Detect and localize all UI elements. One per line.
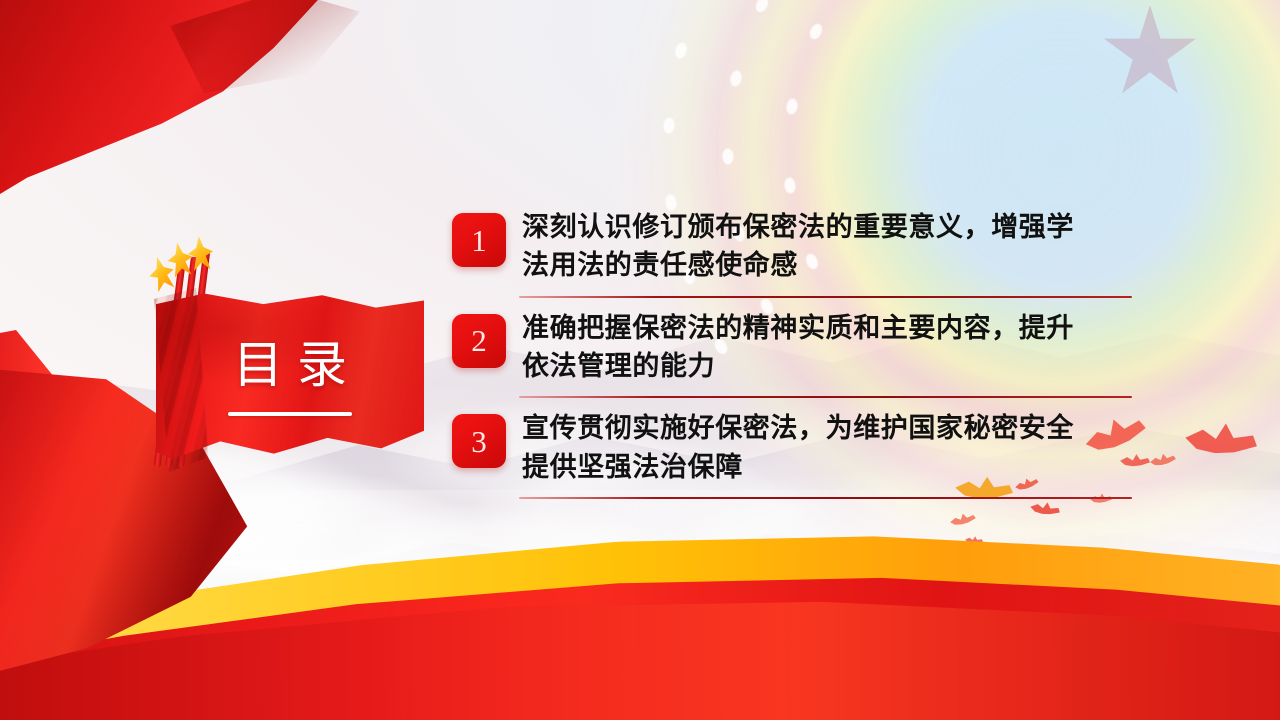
halo-dot bbox=[674, 41, 689, 59]
toc-row[interactable]: 1深刻认识修订颁布保密法的重要意义，增强学 法用法的责任感使命感 bbox=[452, 206, 1132, 285]
bird-icon bbox=[964, 534, 984, 549]
bird-icon bbox=[1181, 412, 1261, 474]
toc-item[interactable]: 3宣传贯彻实施好保密法，为维护国家秘密安全 提供坚强法治保障 bbox=[452, 407, 1132, 508]
silk-fold bbox=[170, 0, 360, 110]
cloud bbox=[300, 500, 720, 650]
cloud bbox=[560, 560, 1080, 720]
star-icon bbox=[1102, 5, 1198, 101]
bird-shape bbox=[1181, 412, 1261, 474]
flag-title-block: 目录 bbox=[156, 290, 424, 466]
page-title: 目录 bbox=[219, 340, 361, 390]
cloud bbox=[900, 540, 1280, 700]
silk-shading bbox=[0, 0, 520, 210]
toc-row[interactable]: 2准确把握保密法的精神实质和主要内容，提升 依法管理的能力 bbox=[452, 307, 1132, 386]
cloud bbox=[200, 540, 720, 710]
halo-dot bbox=[807, 22, 824, 41]
toc-divider bbox=[519, 497, 1132, 499]
red-ribbon-lower bbox=[0, 505, 1280, 720]
cloud bbox=[120, 470, 480, 600]
bird-shape bbox=[1149, 451, 1176, 471]
toc-item-label: 宣传贯彻实施好保密法，为维护国家秘密安全 提供坚强法治保障 bbox=[522, 407, 1132, 486]
table-of-contents: 1深刻认识修订颁布保密法的重要意义，增强学 法用法的责任感使命感2准确把握保密法… bbox=[452, 206, 1132, 508]
halo-dot bbox=[729, 70, 743, 88]
toc-row[interactable]: 3宣传贯彻实施好保密法，为维护国家秘密安全 提供坚强法治保障 bbox=[452, 407, 1132, 486]
toc-item[interactable]: 2准确把握保密法的精神实质和主要内容，提升 依法管理的能力 bbox=[452, 307, 1132, 408]
toc-item-label: 深刻认识修订颁布保密法的重要意义，增强学 法用法的责任感使命感 bbox=[522, 206, 1132, 285]
toc-number-badge[interactable]: 1 bbox=[452, 213, 506, 267]
presentation-slide: 目录 1深刻认识修订颁布保密法的重要意义，增强学 法用法的责任感使命感2准确把握… bbox=[0, 0, 1280, 720]
bird-icon bbox=[1149, 451, 1176, 471]
silk-shape bbox=[0, 0, 520, 210]
toc-divider bbox=[519, 396, 1132, 398]
bird-icon bbox=[949, 511, 977, 531]
cloud bbox=[40, 520, 380, 650]
bird-shape bbox=[964, 534, 984, 549]
toc-item-label: 准确把握保密法的精神实质和主要内容，提升 依法管理的能力 bbox=[522, 307, 1132, 386]
halo-dot bbox=[785, 98, 798, 116]
bird-shape bbox=[949, 511, 977, 531]
halo-dot bbox=[753, 0, 770, 15]
contents-flag: 目录 bbox=[140, 244, 430, 474]
title-underline bbox=[228, 412, 352, 416]
toc-divider bbox=[519, 296, 1132, 298]
halo-dot bbox=[722, 148, 733, 164]
toc-number-badge[interactable]: 3 bbox=[452, 414, 506, 468]
halo-dot bbox=[784, 177, 797, 194]
halo-dot bbox=[663, 118, 675, 135]
toc-number-badge[interactable]: 2 bbox=[452, 314, 506, 368]
toc-item[interactable]: 1深刻认识修订颁布保密法的重要意义，增强学 法用法的责任感使命感 bbox=[452, 206, 1132, 307]
